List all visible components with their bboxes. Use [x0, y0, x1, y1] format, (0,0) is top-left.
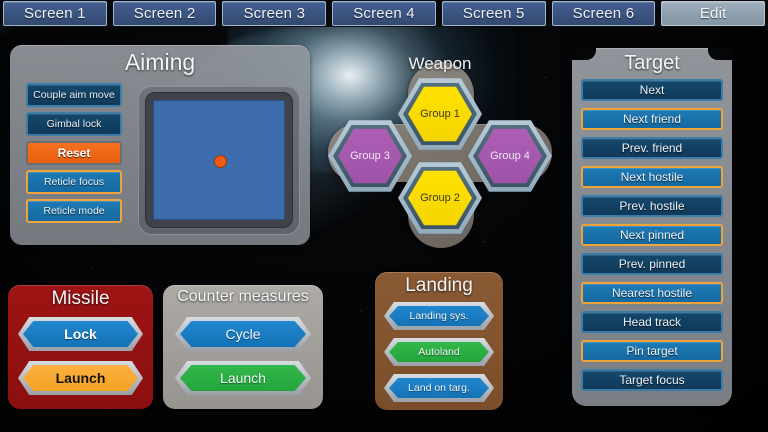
weapon-group-3-cell: Group 3: [328, 118, 412, 194]
weapon-panel-title: Weapon: [322, 54, 558, 74]
target-button-next-hostile[interactable]: Next hostile: [581, 166, 723, 188]
counter-measures-button-cycle-label: Cycle: [225, 326, 260, 342]
landing-button-land-on-target-label: Land on targ.: [408, 382, 470, 394]
target-button-prev-hostile[interactable]: Prev. hostile: [581, 195, 723, 217]
counter-measures-panel-title: Counter measures: [163, 288, 323, 306]
tab-screen-2[interactable]: Screen 2: [113, 1, 217, 26]
aiming-panel: Aiming Couple aim move Gimbal lock Reset…: [10, 45, 310, 245]
counter-measures-button-launch-label: Launch: [220, 370, 266, 386]
tab-screen-4[interactable]: Screen 4: [332, 1, 436, 26]
aiming-button-couple-aim-move[interactable]: Couple aim move: [26, 83, 122, 107]
target-button-list: Next Next friend Prev. friend Next hosti…: [581, 79, 723, 398]
landing-button-landing-sys-label: Landing sys.: [410, 310, 469, 322]
landing-button-autoland[interactable]: Autoland: [384, 338, 494, 366]
aim-pad[interactable]: [138, 85, 300, 235]
weapon-group-4-cell: Group 4: [468, 118, 552, 194]
counter-measures-button-launch[interactable]: Launch: [175, 361, 311, 395]
target-button-pin-target[interactable]: Pin target: [581, 340, 723, 362]
weapon-panel: Weapon Group 1 Group 2 Group 3 Group 4: [322, 48, 558, 256]
missile-button-lock[interactable]: Lock: [18, 317, 143, 351]
target-panel: Target Next Next friend Prev. friend Nex…: [572, 48, 732, 406]
aiming-button-list: Couple aim move Gimbal lock Reset Reticl…: [26, 83, 122, 228]
aiming-button-reticle-mode[interactable]: Reticle mode: [26, 199, 122, 223]
counter-measures-panel: Counter measures Cycle Launch: [163, 285, 323, 409]
aiming-button-reticle-focus[interactable]: Reticle focus: [26, 170, 122, 194]
landing-panel-title: Landing: [375, 275, 503, 297]
missile-button-list: Lock Launch: [18, 317, 143, 405]
app-root: Screen 1 Screen 2 Screen 3 Screen 4 Scre…: [0, 0, 768, 432]
aim-reticle-dot: [214, 155, 227, 168]
aim-pad-bezel: [145, 92, 293, 228]
landing-button-landing-sys[interactable]: Landing sys.: [384, 302, 494, 330]
aim-pad-surface[interactable]: [153, 100, 285, 220]
counter-measures-button-list: Cycle Launch: [175, 317, 311, 405]
missile-button-launch[interactable]: Launch: [18, 361, 143, 395]
target-button-next-friend[interactable]: Next friend: [581, 108, 723, 130]
landing-button-land-on-target[interactable]: Land on targ.: [384, 374, 494, 402]
landing-button-list: Landing sys. Autoland Land on targ.: [384, 302, 494, 410]
landing-panel: Landing Landing sys. Autoland Land on ta…: [375, 272, 503, 410]
tab-edit[interactable]: Edit: [661, 1, 765, 26]
missile-button-launch-label: Launch: [56, 370, 106, 386]
counter-measures-button-cycle[interactable]: Cycle: [175, 317, 311, 351]
target-button-nearest-hostile[interactable]: Nearest hostile: [581, 282, 723, 304]
missile-panel: Missile Lock Launch: [8, 285, 153, 409]
target-button-prev-friend[interactable]: Prev. friend: [581, 137, 723, 159]
aiming-panel-title: Aiming: [10, 49, 310, 76]
tab-screen-3[interactable]: Screen 3: [222, 1, 326, 26]
aiming-button-gimbal-lock[interactable]: Gimbal lock: [26, 112, 122, 136]
target-button-target-focus[interactable]: Target focus: [581, 369, 723, 391]
tab-screen-1[interactable]: Screen 1: [3, 1, 107, 26]
target-button-next[interactable]: Next: [581, 79, 723, 101]
target-panel-title: Target: [572, 52, 732, 75]
aiming-button-reset[interactable]: Reset: [26, 141, 122, 165]
screen-tab-bar: Screen 1 Screen 2 Screen 3 Screen 4 Scre…: [0, 0, 768, 27]
target-button-next-pinned[interactable]: Next pinned: [581, 224, 723, 246]
missile-panel-title: Missile: [8, 288, 153, 310]
target-button-prev-pinned[interactable]: Prev. pinned: [581, 253, 723, 275]
tab-screen-5[interactable]: Screen 5: [442, 1, 546, 26]
target-button-head-track[interactable]: Head track: [581, 311, 723, 333]
landing-button-autoland-label: Autoland: [418, 346, 459, 358]
tab-screen-6[interactable]: Screen 6: [552, 1, 656, 26]
missile-button-lock-label: Lock: [64, 326, 97, 342]
